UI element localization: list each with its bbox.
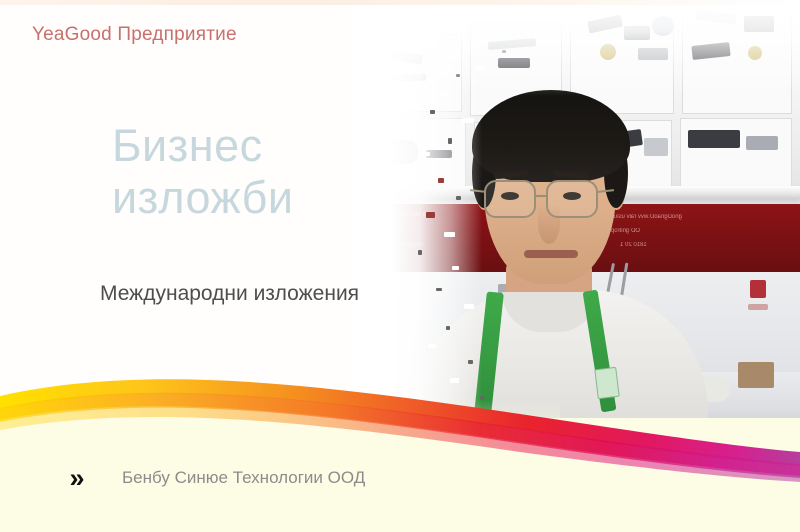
company-name: Бенбу Синюе Технологии ООД — [122, 468, 365, 488]
brand-title: YeaGood Предприятие — [32, 24, 237, 46]
page-title: Бизнес изложби — [112, 120, 294, 224]
footer: » Бенбу Синюе Технологии ООД — [0, 454, 800, 502]
eyeglasses-icon — [484, 180, 536, 218]
presentation-slide: sjrsq nso sulvos.a uysehoqd 1419051018 r… — [0, 0, 800, 532]
page-subtitle: Международни изложения — [100, 282, 359, 306]
double-chevron-right-icon: » — [60, 461, 94, 495]
top-accent-strip — [0, 0, 800, 5]
